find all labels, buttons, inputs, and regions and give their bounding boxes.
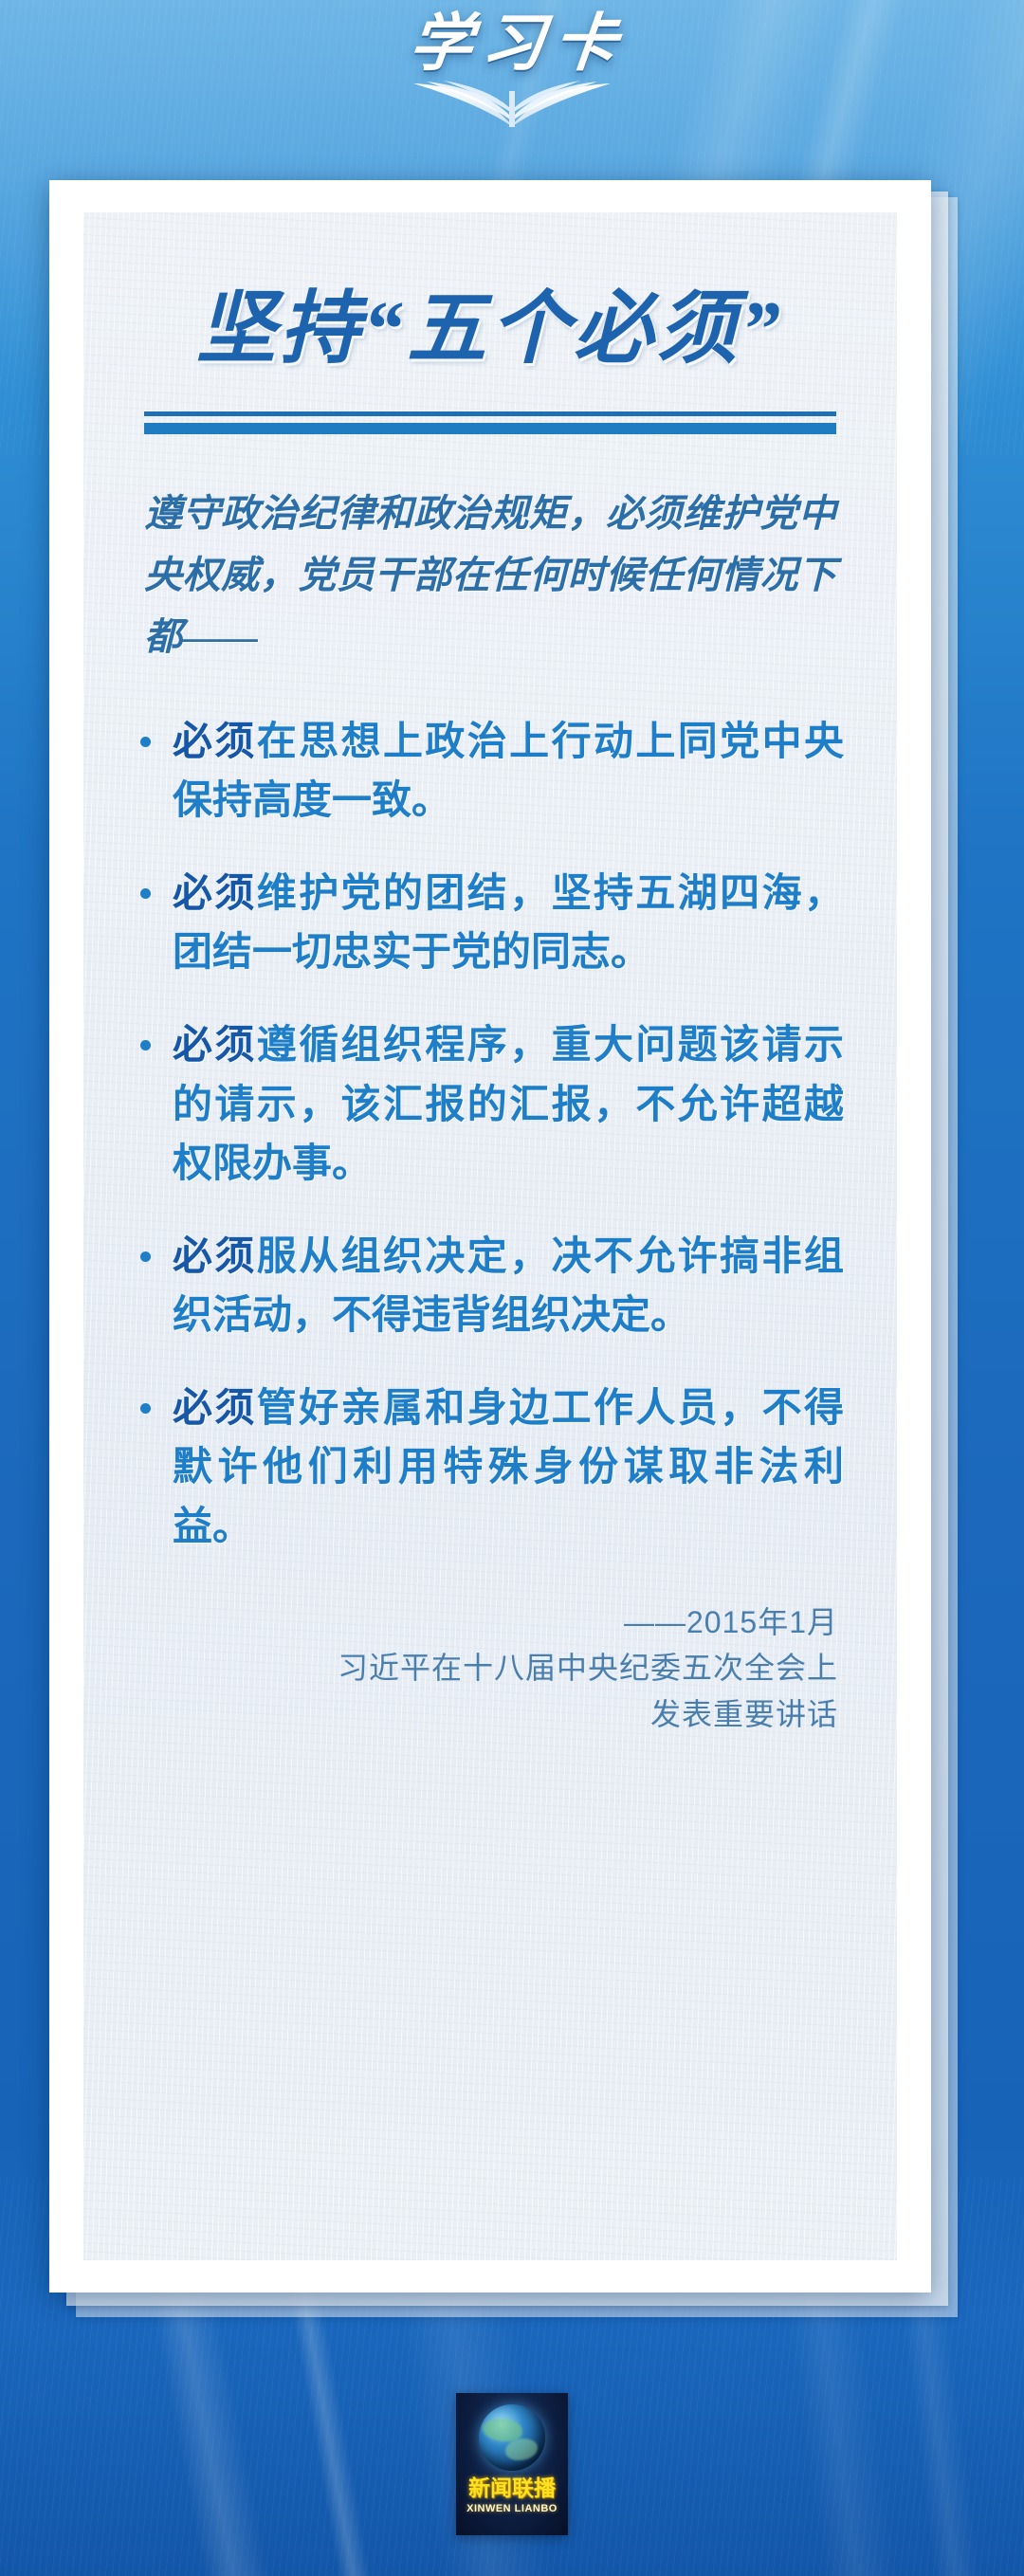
must-list: 必须在思想上政治上行动上同党中央保持高度一致。 必须维护党的团结，坚持五湖四海，… — [137, 712, 844, 1556]
intro-paragraph: 遵守政治纪律和政治规矩，必须维护党中央权威，党员干部在任何时候任何情况下都—— — [144, 484, 836, 667]
list-item-text: 管好亲属和身边工作人员，不得默许他们利用特殊身份谋取非法利益。 — [173, 1385, 844, 1547]
bullet-dot-icon — [140, 737, 151, 747]
list-item: 必须管好亲属和身边工作人员，不得默许他们利用特殊身份谋取非法利益。 — [137, 1379, 844, 1555]
broadcaster-logo: 新闻联播 XINWEN LIANBO — [456, 2393, 568, 2535]
list-item-lead: 必须 — [173, 719, 257, 763]
divider-thick-line — [144, 423, 836, 434]
content-card: 坚持“五个必须” 遵守政治纪律和政治规矩，必须维护党中央权威，党员干部在任何时候… — [49, 180, 931, 2293]
attribution-date: ——2015年1月 — [142, 1599, 838, 1646]
broadcaster-name-cn: 新闻联播 — [468, 2477, 556, 2499]
header-logo-text: 学习卡 — [395, 13, 630, 76]
bullet-dot-icon — [140, 1040, 151, 1050]
page-title: 坚持“五个必须” — [83, 286, 897, 374]
bullet-dot-icon — [140, 888, 151, 899]
list-item-lead: 必须 — [173, 1233, 257, 1278]
list-item: 必须服从组织决定，决不允许搞非组织活动，不得违背组织决定。 — [137, 1227, 844, 1344]
title-divider — [144, 411, 836, 434]
poster-canvas: 学习卡 坚持“五个必须” — [0, 0, 1024, 2576]
attribution-source-line-2: 发表重要讲话 — [142, 1691, 838, 1738]
list-item-text: 服从组织决定，决不允许搞非组织活动，不得违背组织决定。 — [173, 1233, 844, 1337]
attribution-source-line-1: 习近平在十八届中央纪委五次全会上 — [142, 1645, 838, 1691]
list-item-lead: 必须 — [173, 1022, 257, 1067]
list-item: 必须遵循组织程序，重大问题该请示的请示，该汇报的汇报，不允许超越权限办事。 — [137, 1015, 844, 1192]
content-card-inner: 坚持“五个必须” 遵守政治纪律和政治规矩，必须维护党中央权威，党员干部在任何时候… — [83, 212, 897, 2260]
list-item-text: 维护党的团结，坚持五湖四海，团结一切忠实于党的同志。 — [173, 870, 844, 974]
bullet-dot-icon — [140, 1251, 151, 1262]
header-logo: 学习卡 — [0, 13, 1024, 165]
attribution: ——2015年1月 习近平在十八届中央纪委五次全会上 发表重要讲话 — [142, 1599, 838, 1738]
list-item: 必须维护党的团结，坚持五湖四海，团结一切忠实于党的同志。 — [137, 864, 844, 981]
list-item: 必须在思想上政治上行动上同党中央保持高度一致。 — [137, 712, 844, 830]
list-item-text: 在思想上政治上行动上同党中央保持高度一致。 — [173, 719, 844, 822]
list-item-lead: 必须 — [173, 1385, 257, 1430]
bullet-dot-icon — [140, 1403, 151, 1414]
globe-icon — [479, 2404, 545, 2471]
list-item-lead: 必须 — [173, 870, 257, 915]
divider-gap — [144, 416, 836, 423]
open-book-icon — [398, 70, 626, 127]
broadcaster-name-en: XINWEN LIANBO — [466, 2504, 558, 2514]
list-item-text: 遵循组织程序，重大问题该请示的请示，该汇报的汇报，不允许超越权限办事。 — [173, 1022, 844, 1184]
